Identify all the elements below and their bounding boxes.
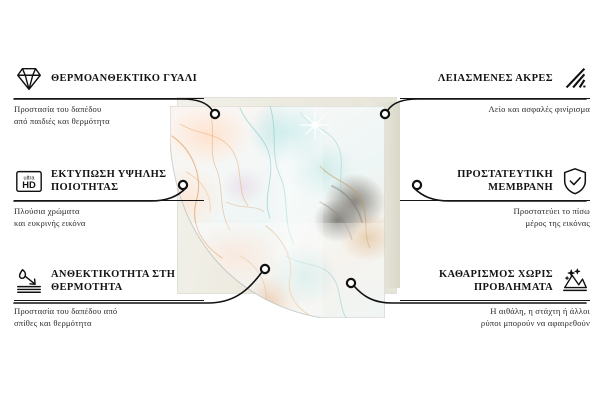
feature-high-quality-print: ultra HD ΕΚΤΥΠΩΣΗ ΥΨΗΛΗΣ ΠΟΙΟΤΗΤΑΣ Πλούσ… bbox=[14, 166, 204, 230]
flame-heat-resistant-icon bbox=[14, 266, 44, 296]
feature-title: ΕΚΤΥΠΩΣΗ ΥΨΗΛΗΣ ΠΟΙΟΤΗΤΑΣ bbox=[51, 168, 204, 195]
easy-cleaning-sparkle-icon bbox=[560, 266, 590, 296]
feature-divider bbox=[400, 200, 590, 201]
ultra-hd-bottom-label: HD bbox=[22, 180, 36, 190]
feature-divider bbox=[14, 98, 204, 99]
feature-desc-line-2: και ευκρινής εικόνα bbox=[14, 218, 204, 230]
feature-header: ΚΑΘΑΡΙΣΜΟΣ ΧΩΡΙΣ ΠΡΟΒΛΗΜΑΤΑ bbox=[400, 266, 590, 296]
feature-description: Λείο και ασφαλές φινίρισμα bbox=[400, 104, 590, 116]
feature-description: Πλούσια χρώματα και ευκρινής εικόνα bbox=[14, 206, 204, 230]
feature-desc-line-1: Προστασία του δαπέδου από bbox=[14, 306, 204, 318]
feature-description: Προστατεύει το πίσω μέρος της εικόνας bbox=[400, 206, 590, 230]
shield-check-icon bbox=[560, 166, 590, 196]
feature-header: ΠΡΟΣΤΑΤΕΥΤΙΚΗ ΜΕΜΒΡΑΝΗ bbox=[400, 166, 590, 196]
feature-desc-line-1: Προστατεύει το πίσω bbox=[400, 206, 590, 218]
feature-header: ΛΕΙΑΣΜΕΝΕΣ ΑΚΡΕΣ bbox=[400, 64, 590, 94]
feature-desc-line-2: μέρος της εικόνας bbox=[400, 218, 590, 230]
feature-description: Προστασία του δαπέδου από σπίθες και θερ… bbox=[14, 306, 204, 330]
feature-desc-line-2: από παιδιές και θερμότητα bbox=[14, 116, 204, 128]
feature-heat-resistant-glass: ΘΕΡΜΟΑΝΘΕΚΤΙΚΟ ΓΥΑΛΙ Προστασία του δαπέδ… bbox=[14, 64, 204, 128]
feature-desc-line-1: Η αιθάλη, η στάχτη ή άλλοι bbox=[400, 306, 590, 318]
feature-header: ΑΝΘΕΚΤΙΚΟΤΗΤΑ ΣΤΗ ΘΕΡΜΟΤΗΤΑ bbox=[14, 266, 204, 296]
feature-title: ΠΡΟΣΤΑΤΕΥΤΙΚΗ ΜΕΜΒΡΑΝΗ bbox=[400, 168, 553, 195]
feature-title: ΘΕΡΜΟΑΝΘΕΚΤΙΚΟ ΓΥΑΛΙ bbox=[51, 72, 197, 85]
feature-desc-line-1: Λείο και ασφαλές φινίρισμα bbox=[400, 104, 590, 116]
feature-easy-cleaning: ΚΑΘΑΡΙΣΜΟΣ ΧΩΡΙΣ ΠΡΟΒΛΗΜΑΤΑ Η αιθάλη, η … bbox=[400, 266, 590, 330]
polished-edges-icon bbox=[560, 64, 590, 94]
feature-protective-membrane: ΠΡΟΣΤΑΤΕΥΤΙΚΗ ΜΕΜΒΡΑΝΗ Προστατεύει το πί… bbox=[400, 166, 590, 230]
feature-header: ΘΕΡΜΟΑΝΘΕΚΤΙΚΟ ΓΥΑΛΙ bbox=[14, 64, 204, 94]
product-image bbox=[170, 92, 420, 324]
feature-desc-line-1: Προστασία του δαπέδου bbox=[14, 104, 204, 116]
diamond-icon bbox=[14, 64, 44, 94]
feature-title: ΑΝΘΕΚΤΙΚΟΤΗΤΑ ΣΤΗ ΘΕΡΜΟΤΗΤΑ bbox=[51, 268, 204, 295]
feature-title: ΛΕΙΑΣΜΕΝΕΣ ΑΚΡΕΣ bbox=[438, 72, 553, 85]
feature-desc-line-2: σπίθες και θερμότητα bbox=[14, 318, 204, 330]
feature-heat-durability: ΑΝΘΕΚΤΙΚΟΤΗΤΑ ΣΤΗ ΘΕΡΜΟΤΗΤΑ Προστασία το… bbox=[14, 266, 204, 330]
feature-divider bbox=[400, 98, 590, 99]
feature-desc-line-1: Πλούσια χρώματα bbox=[14, 206, 204, 218]
ultra-hd-icon: ultra HD bbox=[14, 166, 44, 196]
feature-description: Η αιθάλη, η στάχτη ή άλλοι ρύποι μπορούν… bbox=[400, 306, 590, 330]
feature-divider bbox=[14, 300, 204, 301]
feature-header: ultra HD ΕΚΤΥΠΩΣΗ ΥΨΗΛΗΣ ΠΟΙΟΤΗΤΑΣ bbox=[14, 166, 204, 196]
feature-desc-line-2: ρύποι μπορούν να αφαιρεθούν bbox=[400, 318, 590, 330]
infographic-canvas: ΘΕΡΜΟΑΝΘΕΚΤΙΚΟ ΓΥΑΛΙ Προστασία του δαπέδ… bbox=[0, 0, 600, 400]
feature-description: Προστασία του δαπέδου από παιδιές και θε… bbox=[14, 104, 204, 128]
feature-title: ΚΑΘΑΡΙΣΜΟΣ ΧΩΡΙΣ ΠΡΟΒΛΗΜΑΤΑ bbox=[400, 268, 553, 295]
feature-divider bbox=[14, 200, 204, 201]
feature-polished-edges: ΛΕΙΑΣΜΕΝΕΣ ΑΚΡΕΣ Λείο και ασφαλές φινίρι… bbox=[400, 64, 590, 116]
feature-divider bbox=[400, 300, 590, 301]
